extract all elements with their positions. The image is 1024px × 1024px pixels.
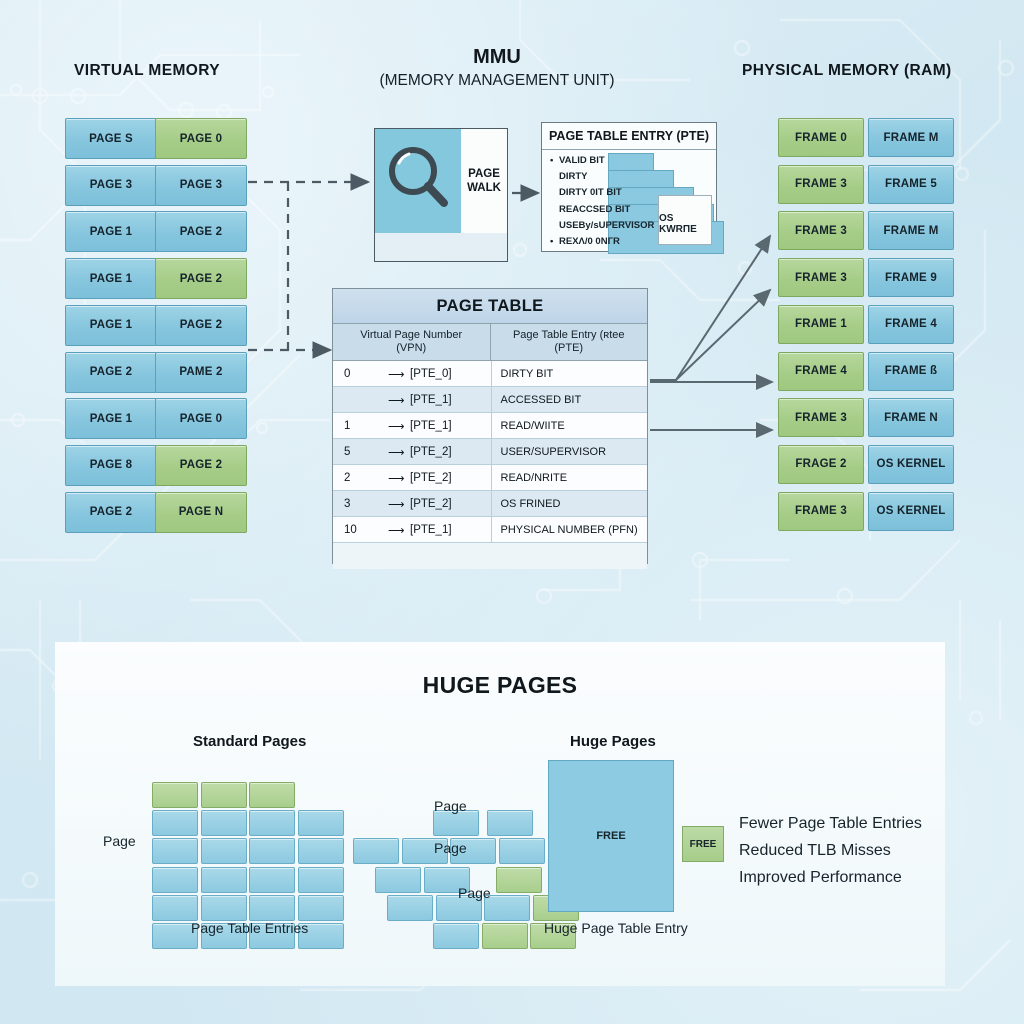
virtual-page-right-5: PAME 2 [155,352,247,393]
page-tile [201,838,247,864]
virtual-page-left-7: PAGE 8 [65,445,157,486]
virtual-page-left-1: PAGE 3 [65,165,157,206]
virtual-page-left-3: PAGE 1 [65,258,157,299]
standard-label-right-3: Page [458,885,491,901]
standard-label-left: Page [103,833,136,849]
huge-page-block: FREE [548,760,674,912]
physical-frame-right-8: OS KERNEL [868,492,954,531]
page-walk-line1: PAGE [468,167,500,181]
pte-flag-item: USEBy/sUPERVISOR [550,218,670,234]
page-tile [387,895,433,921]
page-tile [375,867,421,893]
physical-frame-right-0: FRAME M [868,118,954,157]
page-table-row: 2⟶[PTE_2]READ/NRITE [333,465,647,491]
virtual-page-left-4: PAGE 1 [65,305,157,346]
page-walk-label: PAGE WALK [461,129,507,233]
page-tile [201,782,247,808]
page-tile [482,923,528,949]
cell-vpn: 3⟶[PTE_2] [333,491,492,516]
page-tile [152,838,198,864]
page-tile [152,810,198,836]
standard-label-right-2: Page [434,840,467,856]
cell-vpn: ⟶[PTE_1] [333,387,492,412]
page-table-header-row: Virtual Page Number(VPN) Page Table Entr… [333,324,647,361]
page-table-body: 0⟶[PTE_0]DIRTY BIT⟶[PTE_1]ACCESSED BIT1⟶… [333,361,647,543]
pte-flag-item: DIRTY [550,169,670,185]
physical-frame-left-3: FRAME 3 [778,258,864,297]
physical-frame-right-7: OS KERNEL [868,445,954,484]
page-tile [201,867,247,893]
page-tile [433,810,479,836]
benefit-2: Reduced TLB Misses [739,842,891,860]
cell-pte-flag: ACCESSED BIT [492,387,648,412]
page-table-row: 1⟶[PTE_1]READ/WIITE [333,413,647,439]
cell-vpn: 10⟶[PTE_1] [333,517,492,542]
cell-vpn: 2⟶[PTE_2] [333,465,492,490]
cell-pte-flag: READ/NRITE [492,465,648,490]
column-header-pte: Page Table Entry (ʀtee(PTE) [491,324,648,360]
page-tile [499,838,545,864]
virtual-page-left-5: PAGE 2 [65,352,157,393]
page-tile [298,810,344,836]
pte-flag-item: DIRTY 0IT BIT [550,185,670,201]
standard-label-right-1: Page [434,798,467,814]
page-table-row: 5⟶[PTE_2]USER/SUPERVISOR [333,439,647,465]
page-tile [249,810,295,836]
cell-vpn: 1⟶[PTE_1] [333,413,492,438]
pte-title: PAGE TABLE ENTRY (PTE) [542,123,716,150]
virtual-page-right-4: PAGE 2 [155,305,247,346]
page-table-footer [333,543,647,569]
page-tile [152,782,198,808]
pte-flag-item: •VALID BIT [550,153,670,169]
cell-pte-flag: PHYSICAL NUMBER (PFN) [492,517,648,542]
huge-pages-heading: Huge Pages [570,733,656,750]
physical-frame-left-6: FRAME 3 [778,398,864,437]
column-header-vpn: Virtual Page Number(VPN) [333,324,491,360]
virtual-page-left-2: PAGE 1 [65,211,157,252]
pte-flag-item: REACCSED BIT [550,202,670,218]
page-tile [298,838,344,864]
cell-pte-flag: DIRTY BIT [492,361,648,386]
page-tile [152,867,198,893]
diagram-canvas: VIRTUAL MEMORY MMU (MEMORY MANAGEMENT UN… [0,0,1024,1024]
virtual-page-right-1: PAGE 3 [155,165,247,206]
page-tile [249,867,295,893]
page-tile [484,895,530,921]
virtual-page-right-7: PAGE 2 [155,445,247,486]
physical-frame-left-4: FRAME 1 [778,305,864,344]
mmu-footer-strip [375,233,507,261]
virtual-page-right-3: PAGE 2 [155,258,247,299]
cell-vpn: 0⟶[PTE_0] [333,361,492,386]
physical-frame-right-3: FRAME 9 [868,258,954,297]
huge-pages-title: HUGE PAGES [55,672,945,699]
cell-pte-flag: USER/SUPERVISOR [492,439,648,464]
huge-pages-caption: Huge Page Table Entry [544,920,688,936]
page-tile [249,782,295,808]
physical-memory-title: PHYSICAL MEMORY (RAM) [742,62,952,80]
benefit-3: Improved Performance [739,869,902,887]
page-table-row: 10⟶[PTE_1]PHYSICAL NUMBER (PFN) [333,517,647,543]
page-tile [201,895,247,921]
physical-frame-right-2: FRAME M [868,211,954,250]
physical-frame-right-5: FRAME ß [868,352,954,391]
physical-frame-left-7: FRAGE 2 [778,445,864,484]
page-tile [298,867,344,893]
page-table-panel: PAGE TABLE Virtual Page Number(VPN) Page… [332,288,648,564]
cell-pte-flag: READ/WIITE [492,413,648,438]
page-table-row: 0⟶[PTE_0]DIRTY BIT [333,361,647,387]
page-tile [496,867,542,893]
cell-vpn: 5⟶[PTE_2] [333,439,492,464]
virtual-page-left-6: PAGE 1 [65,398,157,439]
physical-frame-left-5: FRAME 4 [778,352,864,391]
page-walk-line2: WALK [467,181,501,195]
physical-frame-right-6: FRAME N [868,398,954,437]
huge-free-small-block: FREE [682,826,724,862]
page-tile [487,810,533,836]
virtual-page-right-8: PAGE N [155,492,247,533]
page-table-row: ⟶[PTE_1]ACCESSED BIT [333,387,647,413]
virtual-page-right-6: PAGE 0 [155,398,247,439]
page-tile [433,923,479,949]
page-tile [353,838,399,864]
virtual-page-right-2: PAGE 2 [155,211,247,252]
virtual-page-left-8: PAGE 2 [65,492,157,533]
standard-pages-caption: Page Table Entries [191,920,308,936]
benefit-1: Fewer Page Table Entries [739,815,922,833]
pte-flag-item: •REХΛ/0 0NГR [550,234,670,250]
physical-frame-left-0: FRAME 0 [778,118,864,157]
page-tile [298,895,344,921]
standard-pages-heading: Standard Pages [193,733,306,750]
physical-frame-left-1: FRAME 3 [778,165,864,204]
pte-panel: PAGE TABLE ENTRY (PTE) OS KWRΠE •VALID B… [541,122,717,252]
page-tile [249,838,295,864]
page-tile [152,895,198,921]
physical-frame-right-1: FRAME 5 [868,165,954,204]
magnifier-icon [375,129,462,233]
mmu-box: PAGE WALK [374,128,508,262]
physical-frame-left-2: FRAME 3 [778,211,864,250]
physical-frame-left-8: FRAME 3 [778,492,864,531]
cell-pte-flag: OS FRINED [492,491,648,516]
virtual-page-right-0: PAGE 0 [155,118,247,159]
page-tile [249,895,295,921]
pte-flag-list: •VALID BIT DIRTY DIRTY 0IT BIT REACCSED … [550,153,670,250]
page-table-row: 3⟶[PTE_2]OS FRINED [333,491,647,517]
physical-frame-right-4: FRAME 4 [868,305,954,344]
page-tile [201,810,247,836]
virtual-page-left-0: PAGE S [65,118,157,159]
page-table-title: PAGE TABLE [333,289,647,324]
